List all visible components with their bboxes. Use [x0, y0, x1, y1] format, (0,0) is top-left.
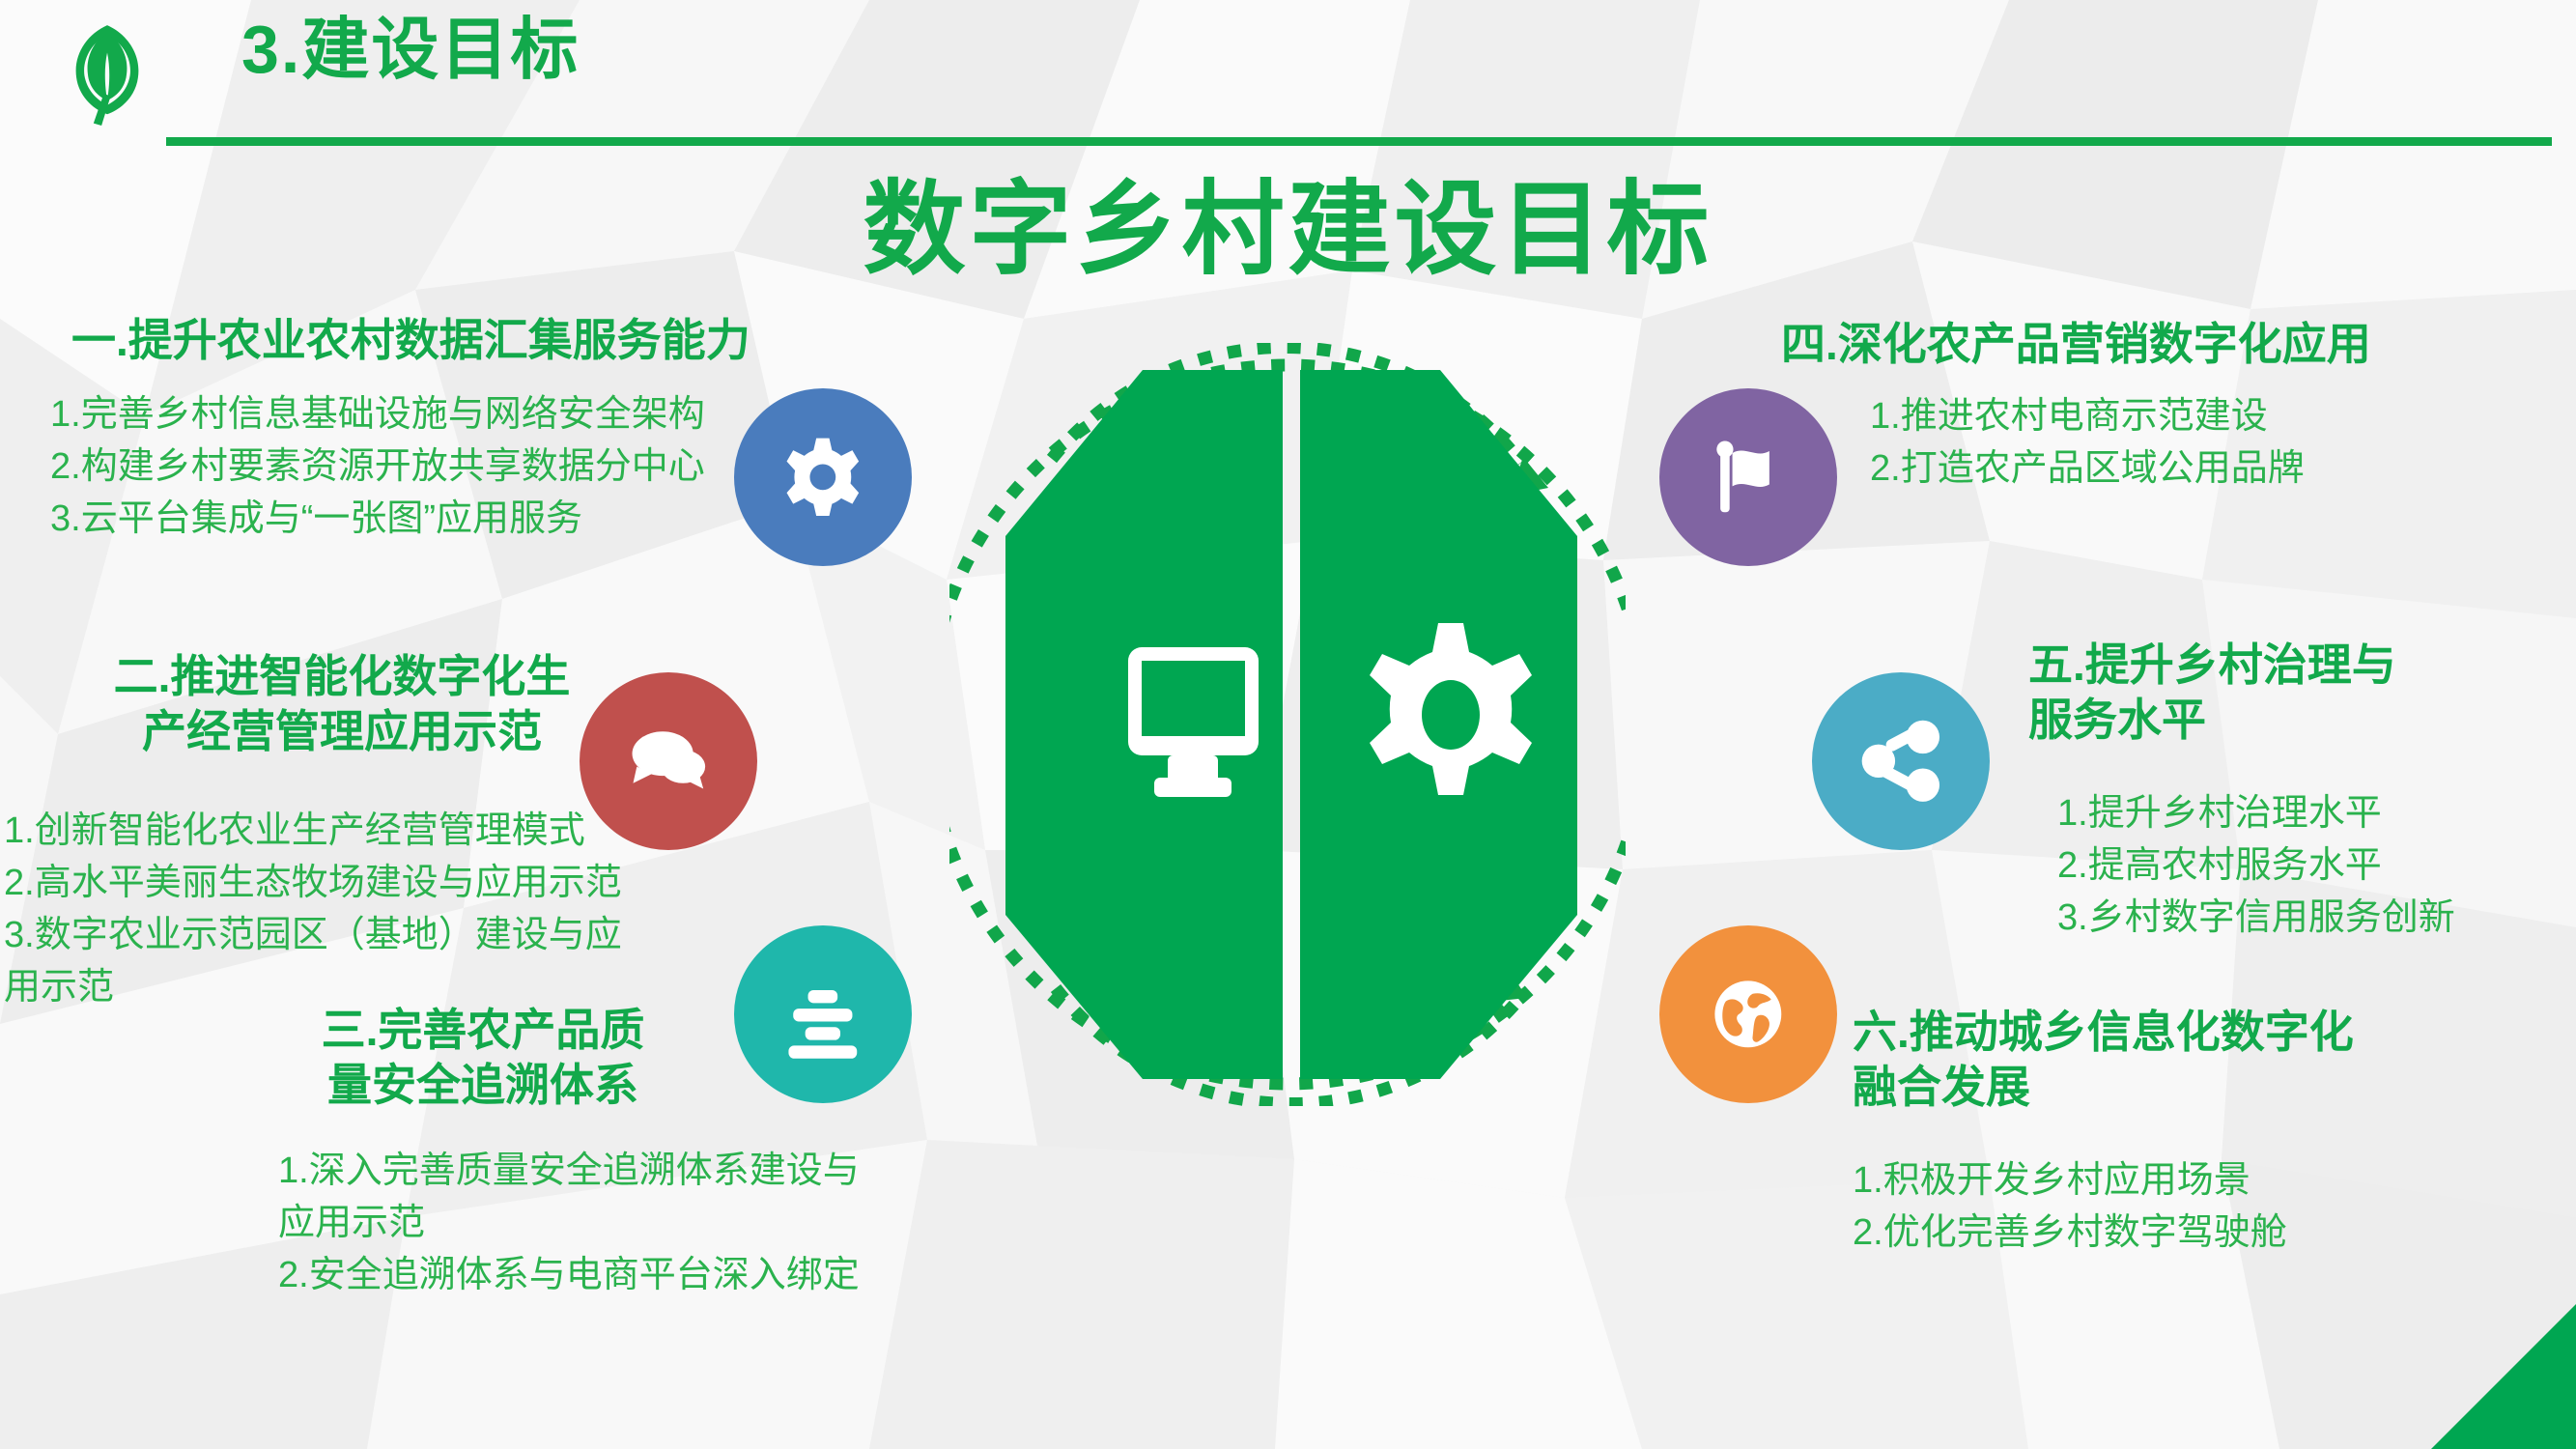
block-two-items: 1.创新智能化农业生产经营管理模式 2.高水平美丽生态牧场建设与应用示范 3.数…: [4, 806, 680, 1014]
center-diagram: [949, 343, 1626, 1106]
header-divider: [166, 137, 2552, 146]
block-five: 五.提升乡村治理与 服务水平 1.提升乡村治理水平 2.提高农村服务水平 3.乡…: [2028, 638, 2569, 945]
main-title: 数字乡村建设目标: [0, 172, 2576, 290]
node-globe[interactable]: [1659, 925, 1837, 1103]
block-two-title: 二.推进智能化数字化生 产经营管理应用示范: [4, 649, 680, 759]
globe-icon: [1702, 968, 1795, 1061]
block-one-title: 一.提升农业农村数据汇集服务能力: [27, 313, 761, 368]
block-six: 六.推动城乡信息化数字化 融合发展 1.积极开发乡村应用场景 2.优化完善乡村数…: [1853, 1005, 2567, 1260]
share-icon: [1854, 715, 1947, 808]
node-share[interactable]: [1812, 672, 1990, 850]
block-three-items: 1.深入完善质量安全追溯体系建设与 应用示范 2.安全追溯体系与电商平台深入绑定: [222, 1146, 918, 1302]
block-one: 一.提升农业农村数据汇集服务能力 1.完善乡村信息基础设施与网络安全架构 2.构…: [27, 313, 761, 546]
gear-icon: [777, 431, 869, 524]
block-three: 三.完善农产品质 量安全追溯体系 1.深入完善质量安全追溯体系建设与 应用示范 …: [222, 1003, 918, 1302]
block-four: 四.深化农产品营销数字化应用 1.推进农村电商示范建设 2.打造农产品区域公用品…: [1748, 317, 2540, 496]
block-one-items: 1.完善乡村信息基础设施与网络安全架构 2.构建乡村要素资源开放共享数据分中心 …: [27, 389, 761, 546]
corner-triangle: [2286, 1304, 2576, 1449]
slide-canvas: 3.建设目标 数字乡村建设目标: [0, 0, 2576, 1449]
block-two: 二.推进智能化数字化生 产经营管理应用示范 1.创新智能化农业生产经营管理模式 …: [4, 649, 680, 1014]
block-five-items: 1.提升乡村治理水平 2.提高农村服务水平 3.乡村数字信用服务创新: [2028, 788, 2569, 945]
block-six-items: 1.积极开发乡村应用场景 2.优化完善乡村数字驾驶舱: [1853, 1155, 2567, 1260]
block-four-items: 1.推进农村电商示范建设 2.打造农产品区域公用品牌: [1748, 391, 2540, 496]
slide-header: 3.建设目标: [0, 0, 2576, 155]
block-four-title: 四.深化农产品营销数字化应用: [1748, 317, 2540, 372]
leaf-icon: [50, 12, 164, 126]
block-six-title: 六.推动城乡信息化数字化 融合发展: [1853, 1005, 2567, 1115]
block-five-title: 五.提升乡村治理与 服务水平: [2028, 638, 2569, 748]
block-three-title: 三.完善农产品质 量安全追溯体系: [222, 1003, 918, 1113]
page-title: 3.建设目标: [241, 15, 580, 83]
